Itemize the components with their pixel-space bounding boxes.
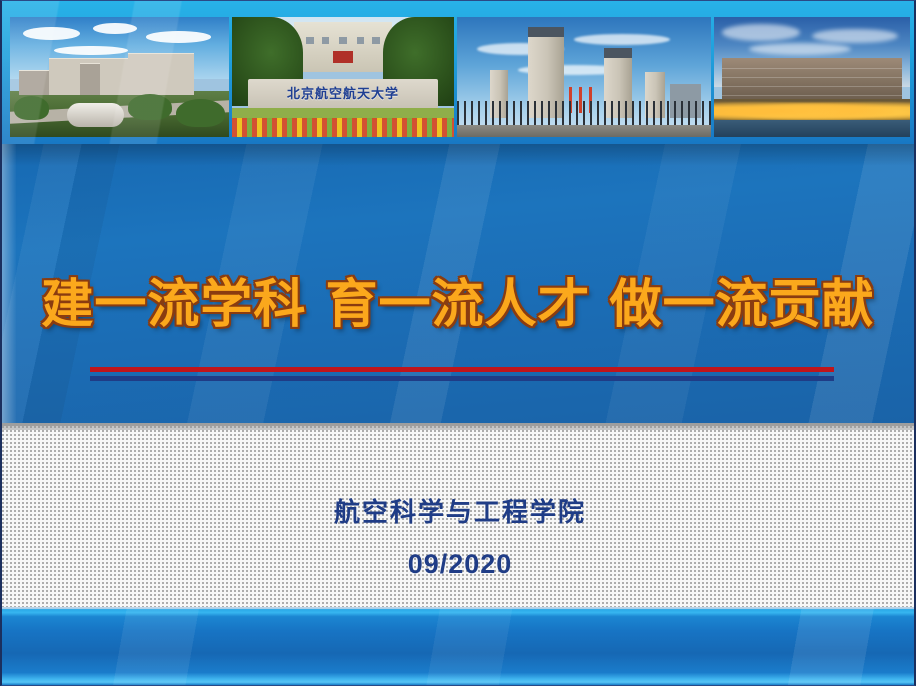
photo-2-stone-text: 北京航空航天大学 — [248, 83, 439, 102]
photo-1-building — [19, 70, 50, 95]
photo-1-shrub — [14, 96, 49, 120]
photo-1-shrub — [128, 94, 172, 120]
photo-4-water — [714, 120, 910, 137]
presentation-slide: 北京航空航天大学 — [0, 0, 916, 686]
photo-4-library — [722, 58, 902, 104]
footer-blue-band — [2, 607, 916, 686]
campus-photo-1 — [10, 17, 229, 137]
photo-2-main-building — [294, 22, 392, 72]
body-area: 航空科学与工程学院 09/2020 — [2, 423, 916, 607]
campus-photo-4 — [714, 17, 910, 137]
photo-3-pillar-cap — [528, 27, 564, 38]
campus-photo-strip: 北京航空航天大学 — [2, 1, 916, 144]
photo-1-building-core — [80, 63, 100, 95]
campus-photo-2: 北京航空航天大学 — [232, 17, 454, 137]
photo-1-building — [128, 53, 194, 95]
hero-top-shade — [2, 144, 916, 166]
subtitle-block: 航空科学与工程学院 09/2020 — [2, 496, 916, 580]
presentation-date: 09/2020 — [2, 548, 916, 580]
photo-3-pillar-cap — [604, 48, 632, 58]
photo-4-cloud — [722, 24, 800, 41]
department-name: 航空科学与工程学院 — [2, 496, 916, 530]
photo-1-cloud — [93, 23, 137, 34]
photo-2-flowerbed — [232, 118, 454, 137]
photo-3-fence — [457, 101, 711, 127]
photo-3-ground — [457, 125, 711, 137]
photo-3-cloud — [574, 34, 671, 45]
campus-photo-3 — [457, 17, 711, 137]
footer-diagonal-stripes — [2, 607, 916, 686]
photo-1-tank — [67, 103, 124, 127]
photo-1-cloud — [23, 27, 80, 40]
photo-4-golden-lights — [714, 99, 910, 123]
divider-rule-navy — [90, 376, 834, 381]
slide-title: 建一流学科 育一流人才 做一流贡献 — [2, 273, 914, 337]
divider-rule-red — [90, 367, 834, 372]
photo-1-shrub — [176, 99, 224, 128]
